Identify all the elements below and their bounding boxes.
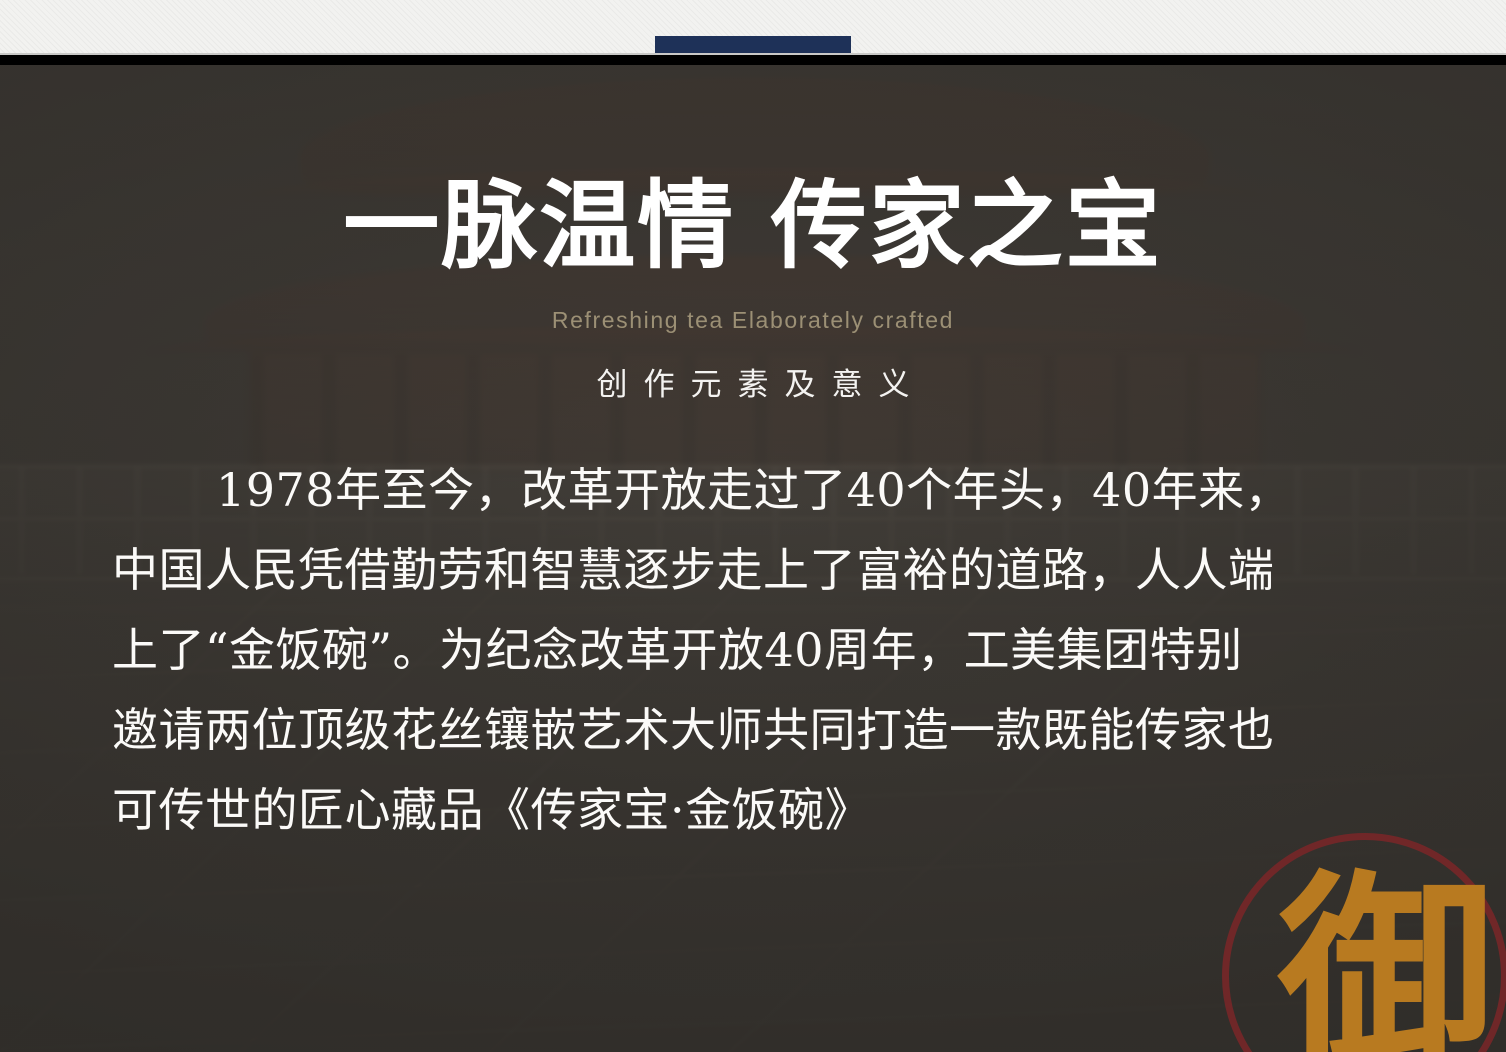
top-strip — [0, 0, 1506, 55]
body-line: 可传世的匠心藏品《传家宝·金饭碗》 — [112, 770, 1404, 850]
page-title: 一脉温情 传家之宝 — [0, 172, 1506, 280]
body-paragraph: 1978年至今，改革开放走过了40个年头，40年来， 中国人民凭借勤劳和智慧逐步… — [112, 450, 1404, 850]
subtitle-english: Refreshing tea Elaborately crafted — [0, 307, 1506, 334]
body-line: 1978年至今，改革开放走过了40个年头，40年来， — [112, 450, 1404, 530]
hero-content: 一脉温情 传家之宝 Refreshing tea Elaborately cra… — [0, 65, 1506, 1052]
body-line: 中国人民凭借勤劳和智慧逐步走上了富裕的道路，人人端 — [112, 530, 1404, 610]
page-root: 御 一脉温情 传家之宝 Refreshing tea Elaborately c… — [0, 0, 1506, 1052]
top-black-band — [0, 55, 1506, 65]
body-line: 上了“金饭碗”。为纪念改革开放40周年，工美集团特别 — [112, 610, 1404, 690]
body-line: 邀请两位顶级花丝镶嵌艺术大师共同打造一款既能传家也 — [112, 690, 1404, 770]
hero-stage: 御 一脉温情 传家之宝 Refreshing tea Elaborately c… — [0, 65, 1506, 1052]
subtitle-chinese: 创作元素及意义 — [0, 359, 1506, 404]
